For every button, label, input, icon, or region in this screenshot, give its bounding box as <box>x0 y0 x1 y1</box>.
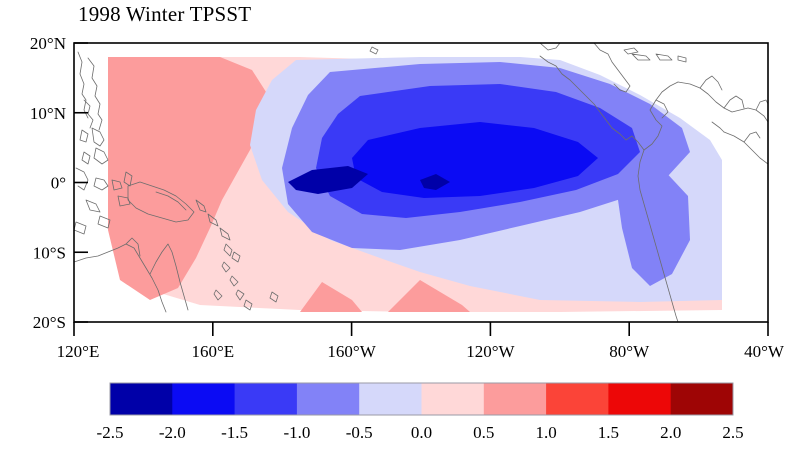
colorbar-cell <box>484 383 547 415</box>
colorbar-cell <box>110 383 173 415</box>
colorbar-cell <box>422 383 485 415</box>
colorbar-tick-label: 1.0 <box>535 423 556 442</box>
xtick-label: 160°E <box>191 342 234 361</box>
colorbar-cell <box>608 383 671 415</box>
y-axis-labels: 20°N 10°N 0° 10°S 20°S <box>30 34 66 332</box>
colorbar-tick-label: 1.5 <box>598 423 619 442</box>
colorbar-tick-label: -1.5 <box>221 423 248 442</box>
ytick-label: 10°N <box>30 104 66 123</box>
colorbar-tick-label: 2.5 <box>722 423 743 442</box>
xtick-label: 40°W <box>744 342 785 361</box>
colorbar-cell <box>671 383 734 415</box>
sst-anomaly-figure: 1998 Winter TPSST <box>0 0 800 457</box>
colorbar-cell <box>297 383 360 415</box>
ytick-label: 20°S <box>33 313 66 332</box>
colorbar-tick-label: -0.5 <box>346 423 373 442</box>
x-axis-labels: 120°E 160°E 160°W 120°W 80°W 40°W <box>57 342 785 361</box>
colorbar-tick-label: -2.0 <box>159 423 186 442</box>
colorbar-cell <box>546 383 609 415</box>
xtick-label: 160°W <box>327 342 376 361</box>
colorbar-cell <box>359 383 422 415</box>
colorbar-cells <box>110 383 734 415</box>
colorbar-cell <box>172 383 235 415</box>
contour-band-group <box>108 57 722 312</box>
ytick-label: 20°N <box>30 34 66 53</box>
colorbar-tick-label: -1.0 <box>283 423 310 442</box>
colorbar-tick-label: 0.5 <box>473 423 494 442</box>
ytick-label: 0° <box>51 174 66 193</box>
colorbar-labels: -2.5-2.0-1.5-1.0-0.50.00.51.01.52.02.5 <box>97 423 744 442</box>
xtick-label: 120°E <box>57 342 100 361</box>
x-axis-ticks <box>74 322 768 336</box>
map-canvas: 20°N 10°N 0° 10°S 20°S 120°E 160°E 160°W… <box>0 0 800 457</box>
colorbar-tick-label: 2.0 <box>660 423 681 442</box>
colorbar-tick-label: -2.5 <box>97 423 124 442</box>
xtick-label: 120°W <box>466 342 515 361</box>
colorbar-tick-label: 0.0 <box>411 423 432 442</box>
colorbar-cell <box>235 383 298 415</box>
xtick-label: 80°W <box>609 342 650 361</box>
ytick-label: 10°S <box>33 243 66 262</box>
